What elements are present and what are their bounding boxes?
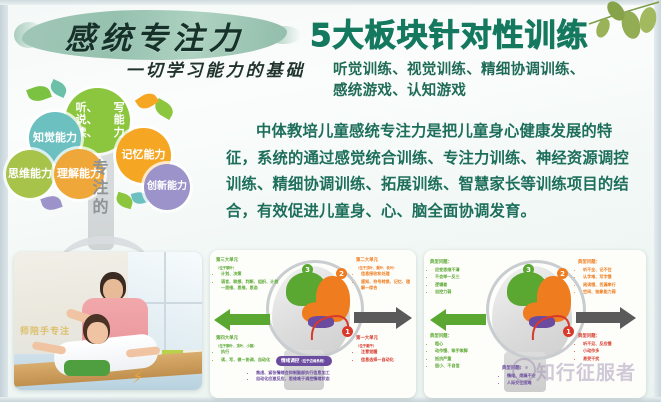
unit-quadrant-1: 第一大单元 （位于脑干） 注意觉醒信息选择—自动化 xyxy=(356,336,414,364)
problem-number-1: 1 xyxy=(563,326,574,337)
photo-bolt-icon: ⚡ xyxy=(132,368,144,388)
brain-units-diagram: 3 2 1 第三大单元 （位于额叶） 计划、决策语言、联想、判断、组织、计划—思… xyxy=(210,250,416,398)
prob-3-title: 典型问题： xyxy=(430,260,490,266)
intro-paragraph: 中体教培儿童感统专注力是把儿童身心健康发展的特征，系统的通过感觉统合训练、专注力… xyxy=(226,118,640,224)
banner-subtitle: 一切学习能力的基础 xyxy=(108,58,323,84)
leaf-accent-icon xyxy=(40,193,62,212)
emotion-badge: 情绪调控（位于边缘系统） xyxy=(276,356,332,366)
ability-bubble-thinking: 思维能力 xyxy=(6,150,54,198)
unit-bottom-notes: 焦虑、紧张情绪会抑制脑部执行信息加工自动化应激反应、思维难于调控情绪状态 xyxy=(250,370,410,383)
section-headline: 5大板块针对性训练 xyxy=(310,15,650,57)
ability-tree-diagram: 听、说、读、写能力 知觉能力 记忆能力 思维能力 理解能力 创新能力 专注的 xyxy=(4,84,209,254)
unit-number-3: 3 xyxy=(302,264,313,275)
unit-quadrant-4: 第四大单元 （位于额叶、顶叶、小脑） 执行读、写、做—协调、自动化 xyxy=(216,336,274,364)
banner-brush-stroke: 感统专注力 xyxy=(22,10,287,60)
ability-bubble-innovation: 创新能力 xyxy=(144,164,190,210)
unit-2-note: （位于顶叶、颞叶、枕叶） xyxy=(356,266,397,270)
unit-quadrant-3: 第三大单元 （位于额叶） 计划、决策语言、联想、判断、组织、计划—思维、思维、思… xyxy=(216,258,280,292)
prob-2-title: 典型问题： xyxy=(578,260,642,266)
problem-quadrant-4: 典型问题： 粗心动作慢、笨手笨脚抵抗严重胆小、不自信 xyxy=(430,334,492,370)
page-edge-right xyxy=(654,0,661,402)
unit-3-note: （位于额叶） xyxy=(216,266,236,270)
watermark-text: 知行征服者 xyxy=(536,358,636,385)
watermark-logo-icon xyxy=(512,358,536,382)
problem-number-2: 2 xyxy=(557,268,568,279)
leaf-accent-icon xyxy=(26,83,52,105)
unit-4-items: 执行读、写、做—协调、自动化 xyxy=(216,349,274,362)
training-photo: 师陪手专注 ⚡ xyxy=(14,252,202,390)
unit-2-items: 信息接收和处理感知、符号转换、记忆、理解—综合 xyxy=(356,271,414,291)
arrow-right-icon xyxy=(352,306,414,334)
prob-4-items: 粗心动作慢、笨手笨脚抵抗严重胆小、不自信 xyxy=(430,341,492,369)
prob-4-title: 典型问题： xyxy=(430,334,492,340)
prob-3-items: 应变思维不清不会举一反三逻辑差自控力弱 xyxy=(430,267,490,295)
tree-center-label: 专注的 xyxy=(90,158,112,217)
prob-2-items: 听不全、记不住认字难、写字慢阅读慢、丢漏串行空间、抽象能力弱 xyxy=(578,267,642,295)
section-subheadline: 听觉训练、视觉训练、精细协调训练、感统游戏、认知游戏 xyxy=(333,60,653,102)
unit-4-title: 第四大单元 xyxy=(216,336,274,342)
banner-title: 感统专注力 xyxy=(22,10,287,60)
problem-quadrant-2: 典型问题： 听不全、记不住认字难、写字慢阅读慢、丢漏串行空间、抽象能力弱 xyxy=(578,260,642,296)
unit-3-items: 计划、决策语言、联想、判断、组织、计划—思维、思维、思态 xyxy=(216,271,280,291)
arrow-right-icon xyxy=(574,306,638,334)
unit-2-title: 第二大单元 xyxy=(356,258,414,264)
arrow-left-icon xyxy=(212,308,272,336)
unit-4-note: （位于额叶、顶叶、小脑） xyxy=(216,344,257,348)
prob-1-title: 典型问题： xyxy=(578,334,640,340)
unit-quadrant-2: 第二大单元 （位于顶叶、颞叶、枕叶） 信息接收和处理感知、符号转换、记忆、理解—… xyxy=(356,258,414,292)
poster-canvas: 感统专注力 一切学习能力的基础 听、说、读、写能力 知觉能力 记忆能力 思维能力… xyxy=(0,0,661,402)
unit-number-2: 2 xyxy=(336,268,347,279)
photo-wall-caption: 师陪手专注 xyxy=(20,324,70,337)
arrow-left-icon xyxy=(428,308,488,336)
problem-number-3: 3 xyxy=(523,264,534,275)
unit-1-title: 第一大单元 xyxy=(356,336,414,342)
unit-1-note: （位于脑干） xyxy=(356,344,376,348)
unit-1-items: 注意觉醒信息选择—自动化 xyxy=(356,349,414,362)
problem-quadrant-3: 典型问题： 应变思维不清不会举一反三逻辑差自控力弱 xyxy=(430,260,490,296)
unit-3-title: 第三大单元 xyxy=(216,258,280,264)
unit-bottom-items: 焦虑、紧张情绪会抑制脑部执行信息加工自动化应激反应、思维难于调控情绪状态 xyxy=(250,370,410,383)
